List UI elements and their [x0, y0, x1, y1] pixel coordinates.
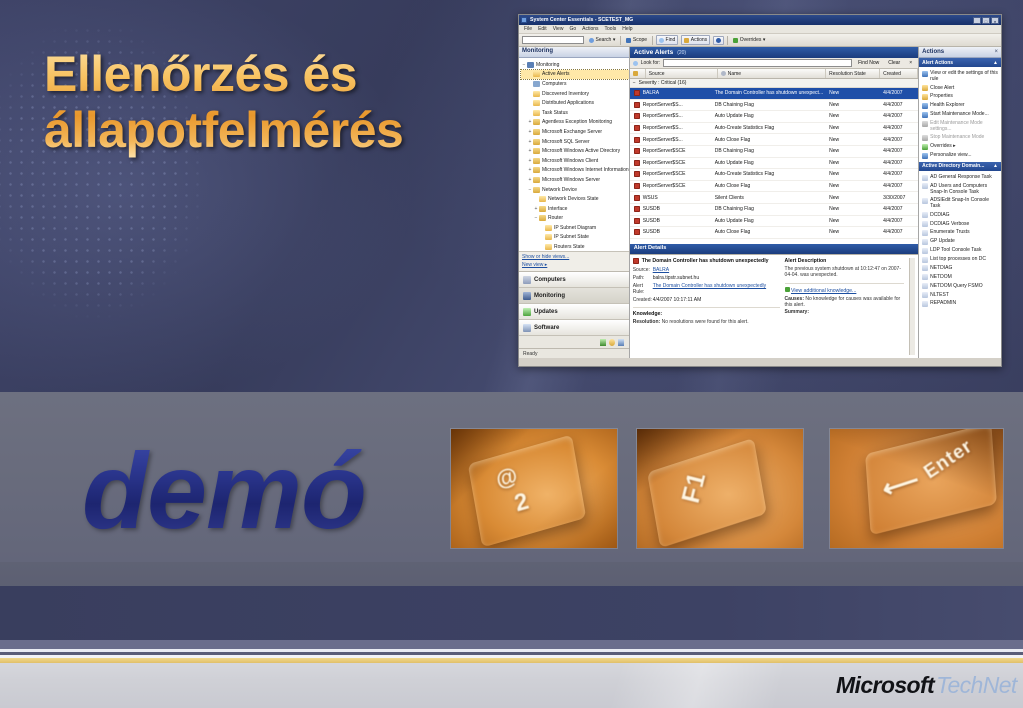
collapse-chevron-icon[interactable]: ▲: [993, 60, 998, 66]
actions-section-title: Alert Actions: [922, 60, 953, 66]
lookfor-bar[interactable]: Look for: Find Now Clear ×: [630, 58, 918, 69]
tree-item-network-devices-state[interactable]: Network Devices State: [521, 194, 629, 204]
page-title: Ellenőrzés és állapotfelmérés: [44, 46, 474, 158]
cell-created: 4/4/2007: [880, 102, 918, 108]
action-item-label: Start Maintenance Mode...: [930, 111, 989, 117]
cell-source: BALRA: [640, 90, 712, 96]
table-row[interactable]: ReportServer$SCEAuto-Create Statistics F…: [630, 169, 918, 181]
action-item-repadmin[interactable]: REPADMIN: [919, 299, 1001, 308]
group-header-row[interactable]: − Severity : Critical (16): [630, 79, 918, 88]
knowledge-icon: [785, 287, 790, 292]
action-item-enumerate-trusts[interactable]: Enumerate Trusts: [919, 228, 1001, 237]
tree-item-label: Active Alerts: [542, 71, 570, 77]
tree-item-microsoft-windows-server[interactable]: +Microsoft Windows Server: [521, 175, 629, 185]
action-item-label: Stop Maintenance Mode: [930, 134, 984, 140]
cell-source: SUSDB: [640, 206, 712, 212]
cell-created: 4/4/2007: [880, 171, 918, 177]
cell-source: ReportServer$SCE: [640, 183, 712, 189]
cell-created: 4/4/2007: [880, 183, 918, 189]
tree-item-label: Microsoft Exchange Server: [542, 129, 602, 135]
active-alerts-count: (20): [677, 50, 686, 56]
tree-item-computers[interactable]: Computers: [521, 79, 629, 89]
detail-field-value[interactable]: BALRA: [653, 267, 780, 273]
lookfor-input[interactable]: [663, 59, 852, 67]
tree-item-label: Routers State: [554, 244, 585, 250]
details-scrollbar[interactable]: [909, 258, 915, 355]
find-now-button[interactable]: Find Now: [855, 60, 882, 66]
find-label: Find: [666, 37, 676, 43]
demo-word: demó: [24, 437, 424, 545]
cell-name: Auto-Create Statistics Flag: [712, 125, 826, 131]
app-body: Monitoring −MonitoringActive AlertsCompu…: [519, 47, 1001, 358]
monitoring-tree[interactable]: −MonitoringActive AlertsComputersDiscove…: [519, 58, 629, 251]
menu-item-actions[interactable]: Actions: [582, 26, 598, 32]
column-name-label: Name: [728, 71, 741, 77]
cell-created: 4/4/2007: [880, 113, 918, 119]
maximize-button[interactable]: □: [982, 17, 990, 24]
detail-field-key: Source:: [633, 267, 653, 273]
cell-name: Auto Close Flag: [712, 183, 826, 189]
cell-source: ReportServer$SCE: [640, 171, 712, 177]
cell-resolution-state: New: [826, 218, 880, 224]
computers-nav-icon: [523, 276, 531, 284]
cell-resolution-state: New: [826, 229, 880, 235]
overrides-button[interactable]: Overrides ▾: [731, 36, 767, 44]
menu-item-tools[interactable]: Tools: [605, 26, 617, 32]
alert-icon: [533, 71, 540, 77]
table-row[interactable]: ReportServer$SCEAuto Update FlagNew4/4/2…: [630, 158, 918, 170]
severity-icon: [633, 71, 638, 76]
table-row[interactable]: SUSDBAuto Update FlagNew4/4/2007: [630, 216, 918, 228]
alert-description-text: The previous system shutdown at 10:12:47…: [785, 266, 905, 279]
cell-resolution-state: New: [826, 195, 880, 201]
table-row[interactable]: ReportServer$S...Auto Update FlagNew4/4/…: [630, 111, 918, 123]
maintenance-icon: [922, 112, 928, 118]
table-row[interactable]: WSUSSilent ClientsNew3/30/2007: [630, 192, 918, 204]
tree-item-label: IP Subnet State: [554, 234, 589, 240]
cell-source: ReportServer$SCE: [640, 160, 712, 166]
cell-name: The Domain Controller has shutdown unexp…: [712, 90, 826, 96]
photo-at-2-key: @ 2: [451, 429, 617, 548]
actions-section-title: Active Directory Domain...: [922, 163, 984, 169]
active-alerts-header: Active Alerts (20): [630, 47, 918, 58]
cell-created: 4/4/2007: [880, 229, 918, 235]
tree-item-monitoring[interactable]: −Monitoring: [521, 60, 629, 70]
lookfor-close-icon[interactable]: ×: [906, 60, 915, 66]
state-icon: [545, 234, 552, 240]
tree-item-label: Agentless Exception Monitoring: [542, 119, 612, 125]
alert-details-right: Alert Description The previous system sh…: [785, 258, 905, 355]
action-item-label: LDP Tool Console Task: [930, 247, 981, 253]
scope-button[interactable]: Scope: [624, 36, 649, 44]
tree-item-distributed-applications[interactable]: Distributed Applications: [521, 98, 629, 108]
cell-name: Auto Update Flag: [712, 218, 826, 224]
knowledge-header: Knowledge:: [633, 307, 780, 317]
nav-button-updates[interactable]: Updates: [519, 304, 629, 320]
cell-resolution-state: New: [826, 102, 880, 108]
tree-item-label: Monitoring: [536, 62, 559, 68]
scope-icon: [626, 38, 631, 43]
action-item-overrides[interactable]: Overrides ▸: [919, 142, 1001, 151]
table-row[interactable]: ReportServer$S...DB Chaining FlagNew4/4/…: [630, 100, 918, 112]
action-item-edit-maintenance-mode-settings: Edit Maintenance Mode settings...: [919, 119, 1001, 133]
folder-icon: [533, 148, 540, 154]
action-item-label: View or edit the settings of this rule: [930, 70, 998, 82]
close-button[interactable]: ×: [991, 17, 999, 24]
task-icon: [922, 248, 928, 254]
menu-item-edit[interactable]: Edit: [538, 26, 547, 32]
detail-field: Alert Rule:The Domain Controller has shu…: [633, 283, 780, 295]
search-icon: [589, 38, 594, 43]
tree-item-label: Microsoft Windows Active Directory: [542, 148, 620, 154]
action-item-ad-users-and-computers-snap-in-console-task[interactable]: AD Users and Computers Snap-In Console T…: [919, 182, 1001, 196]
action-item-label: AD Users and Computers Snap-In Console T…: [930, 183, 998, 195]
personalize-icon: [922, 153, 928, 159]
software-nav-icon: [523, 324, 531, 332]
table-row[interactable]: ReportServer$S...Auto-Create Statistics …: [630, 123, 918, 135]
table-row[interactable]: ReportServer$SCEAuto Close FlagNew4/4/20…: [630, 181, 918, 193]
folder-icon: [539, 206, 546, 212]
actions-pane-close-icon[interactable]: ×: [994, 49, 998, 55]
cell-source: SUSDB: [640, 218, 712, 224]
action-item-label: NLTEST: [930, 292, 949, 298]
action-item-label: GP Update: [930, 238, 955, 244]
column-name[interactable]: Name: [718, 69, 826, 78]
cell-source: ReportServer$SCE: [640, 148, 712, 154]
lookfor-icon: [633, 61, 638, 66]
task-icon: [922, 183, 928, 189]
cell-resolution-state: New: [826, 137, 880, 143]
cell-name: Auto-Create Statistics Flag: [712, 171, 826, 177]
nav-button-list[interactable]: ComputersMonitoringUpdatesSoftware: [519, 271, 629, 336]
action-item-label: NETDOM: [930, 274, 952, 280]
health-explorer-icon: [922, 103, 928, 109]
scope-label: Scope: [633, 37, 647, 43]
column-created[interactable]: Created: [880, 69, 918, 78]
action-item-personalize-view[interactable]: Personalize view...: [919, 151, 1001, 160]
monitoring-nav-icon: [523, 292, 531, 300]
slide-canvas: Ellenőrzés és állapotfelmérés demó @ 2 F…: [0, 0, 1023, 708]
help-icon: [716, 38, 721, 43]
tree-item-label: Computers: [542, 81, 566, 87]
tree-item-network-device[interactable]: −Network Device: [521, 185, 629, 195]
updates-nav-icon: [523, 308, 531, 316]
tree-item-microsoft-windows-client[interactable]: +Microsoft Windows Client: [521, 156, 629, 166]
view-knowledge-row[interactable]: View additional knowledge...: [785, 283, 905, 294]
column-severity[interactable]: [630, 69, 646, 78]
name-sort-icon: [721, 71, 726, 76]
nav-button-label: Computers: [534, 277, 566, 283]
active-alerts-title: Active Alerts: [634, 49, 674, 56]
minimize-button[interactable]: _: [973, 17, 981, 24]
actions-icon: [684, 38, 689, 43]
properties-icon: [922, 94, 928, 100]
folder-icon: [533, 167, 540, 173]
detail-field: Source:BALRA: [633, 267, 780, 273]
maintenance-stop-icon: [922, 135, 928, 141]
cell-created: 4/4/2007: [880, 137, 918, 143]
tree-item-label: Microsoft Windows Server: [542, 177, 600, 183]
summary-label: Summary:: [785, 309, 905, 315]
actions-section-header[interactable]: Active Directory Domain...▲: [919, 162, 1001, 171]
task-icon: [922, 230, 928, 236]
table-row[interactable]: SUSDBDB Chaining FlagNew4/4/2007: [630, 204, 918, 216]
critical-severity-icon: [633, 258, 639, 264]
tree-item-microsoft-windows-internet-information[interactable]: +Microsoft Windows Internet Information: [521, 166, 629, 176]
tree-item-label: IP Subnet Diagram: [554, 225, 596, 231]
tree-item-ip-subnet-state[interactable]: IP Subnet State: [521, 233, 629, 243]
help-button[interactable]: [713, 36, 724, 45]
column-resolution-state[interactable]: Resolution State: [826, 69, 880, 78]
nav-button-computers[interactable]: Computers: [519, 272, 629, 288]
group-label: Severity : Critical (16): [639, 80, 687, 86]
alert-details-left: The Domain Controller has shutdown unexp…: [633, 258, 780, 355]
folder-icon: [533, 177, 540, 183]
table-row[interactable]: BALRAThe Domain Controller has shutdown …: [630, 88, 918, 100]
cell-resolution-state: New: [826, 125, 880, 131]
find-button[interactable]: Find: [656, 35, 678, 45]
actions-item-list: View or edit the settings of this ruleCl…: [919, 67, 1001, 162]
action-item-nltest[interactable]: NLTEST: [919, 290, 1001, 299]
action-item-gp-update[interactable]: GP Update: [919, 237, 1001, 246]
action-item-label: REPADMIN: [930, 300, 956, 306]
tree-item-label: Router: [548, 215, 563, 221]
clear-button[interactable]: Clear: [885, 60, 903, 66]
actions-pane-title: Actions: [922, 49, 944, 55]
resolution-line: Resolution: No resolutions were found fo…: [633, 319, 780, 325]
nav-button-software[interactable]: Software: [519, 320, 629, 336]
maintenance-edit-icon: [922, 121, 928, 127]
tree-footer: Show or hide views... New view ▸: [519, 251, 629, 271]
cell-source: ReportServer$S...: [640, 137, 712, 143]
diagram-icon: [545, 225, 552, 231]
tray-blue-icon[interactable]: [618, 339, 624, 346]
inventory-icon: [533, 91, 540, 97]
cell-resolution-state: New: [826, 90, 880, 96]
cell-source: SUSDB: [640, 229, 712, 235]
cell-name: Auto Update Flag: [712, 113, 826, 119]
detail-field-value: 4/4/2007 10:17:11 AM: [653, 297, 780, 303]
detail-field-value[interactable]: The Domain Controller has shutdown unexp…: [653, 283, 780, 295]
action-item-start-maintenance-mode[interactable]: Start Maintenance Mode...: [919, 110, 1001, 119]
photo-f1-key: F1: [637, 429, 803, 548]
nav-tray[interactable]: [519, 336, 629, 348]
action-item-close-alert[interactable]: Close Alert: [919, 83, 1001, 92]
column-source[interactable]: Source: [646, 69, 718, 78]
menu-item-help[interactable]: Help: [622, 26, 632, 32]
actions-label: Actions: [691, 37, 707, 43]
action-item-label: Health Explorer: [930, 102, 964, 108]
action-item-ldp-tool-console-task[interactable]: LDP Tool Console Task: [919, 246, 1001, 255]
menu-item-go[interactable]: Go: [569, 26, 576, 32]
action-item-view-or-edit-the-settings-of-this-rule[interactable]: View or edit the settings of this rule: [919, 69, 1001, 83]
alert-rows[interactable]: BALRAThe Domain Controller has shutdown …: [630, 88, 918, 244]
action-item-health-explorer[interactable]: Health Explorer: [919, 101, 1001, 110]
alert-details-title: The Domain Controller has shutdown unexp…: [642, 258, 769, 264]
action-item-list-top-processes-on-dc[interactable]: List top processes on DC: [919, 255, 1001, 264]
action-item-dcdiag-verbose[interactable]: DCDIAG Verbose: [919, 219, 1001, 228]
cell-created: 4/4/2007: [880, 218, 918, 224]
cell-name: DB Chaining Flag: [712, 102, 826, 108]
state-icon: [539, 196, 546, 202]
tree-item-agentless-exception-monitoring[interactable]: +Agentless Exception Monitoring: [521, 118, 629, 128]
tree-item-discovered-inventory[interactable]: Discovered Inventory: [521, 89, 629, 99]
new-view-link[interactable]: New view ▸: [522, 262, 626, 268]
action-item-ad-general-response-task[interactable]: AD General Response Task: [919, 173, 1001, 182]
alert-details-title-row: The Domain Controller has shutdown unexp…: [633, 258, 780, 264]
causes-label: Causes:: [785, 296, 804, 302]
tree-item-label: Microsoft Windows Client: [542, 158, 598, 164]
cell-created: 4/4/2007: [880, 90, 918, 96]
nav-button-monitoring[interactable]: Monitoring: [519, 288, 629, 304]
table-row[interactable]: ReportServer$SCEDB Chaining FlagNew4/4/2…: [630, 146, 918, 158]
application-screenshot: System Center Essentials - SCETEST_MG _ …: [518, 14, 1002, 367]
tray-green-icon[interactable]: [600, 339, 606, 346]
search-button[interactable]: Search ▾: [587, 36, 617, 44]
cell-resolution-state: New: [826, 113, 880, 119]
cell-resolution-state: New: [826, 206, 880, 212]
action-item-label: Edit Maintenance Mode settings...: [930, 120, 998, 132]
resolution-text: No resolutions were found for this alert…: [662, 319, 749, 325]
action-item-label: Properties: [930, 93, 953, 99]
tree-item-ip-subnet-diagram[interactable]: IP Subnet Diagram: [521, 223, 629, 233]
results-pane: Active Alerts (20) Look for: Find Now Cl…: [630, 47, 919, 358]
find-icon: [659, 38, 664, 43]
action-item-netdom[interactable]: NETDOM: [919, 273, 1001, 282]
task-icon: [922, 221, 928, 227]
microsoft-wordmark: Microsoft: [836, 672, 934, 698]
show-hide-views-link[interactable]: Show or hide views...: [522, 254, 626, 260]
app-icon: [521, 17, 527, 23]
menu-item-file[interactable]: File: [524, 26, 532, 32]
tree-item-microsoft-exchange-server[interactable]: +Microsoft Exchange Server: [521, 127, 629, 137]
task-icon: [533, 110, 540, 116]
cell-resolution-state: New: [826, 171, 880, 177]
actions-pane-header: Actions ×: [919, 47, 1001, 58]
actions-sections[interactable]: Alert Actions▲View or edit the settings …: [919, 58, 1001, 310]
cell-created: 3/30/2007: [880, 195, 918, 201]
detail-field: Path:balra.tipstr.subnet.hu: [633, 275, 780, 281]
lookfor-label: Look for:: [641, 60, 660, 66]
actions-section-header[interactable]: Alert Actions▲: [919, 58, 1001, 67]
tree-item-interface[interactable]: +Interface: [521, 204, 629, 214]
action-item-netdiag[interactable]: NETDIAG: [919, 264, 1001, 273]
detail-field-key: Alert Rule:: [633, 283, 653, 295]
causes-line: Causes: No knowledge for causes was avai…: [785, 296, 905, 309]
folder-icon: [533, 139, 540, 145]
search-label: Search: [596, 37, 612, 43]
task-icon: [922, 301, 928, 307]
cell-name: DB Chaining Flag: [712, 148, 826, 154]
action-item-label: AD General Response Task: [930, 174, 992, 180]
alert-description-header: Alert Description: [785, 258, 905, 264]
technet-wordmark: TechNet: [936, 672, 1017, 698]
menu-item-view[interactable]: View: [553, 26, 564, 32]
cell-name: DB Chaining Flag: [712, 206, 826, 212]
search-input[interactable]: [522, 36, 584, 44]
column-headers[interactable]: Source Name Resolution State Created: [630, 69, 918, 79]
nav-button-label: Software: [534, 325, 559, 331]
cell-created: 4/4/2007: [880, 206, 918, 212]
slide-background-navy-band: [0, 586, 1023, 640]
tree-item-microsoft-windows-active-directory[interactable]: +Microsoft Windows Active Directory: [521, 146, 629, 156]
action-item-label: DCDIAG Verbose: [930, 221, 969, 227]
tree-item-task-status[interactable]: Task Status: [521, 108, 629, 118]
slide-background-periwinkle-rule: [0, 640, 1023, 649]
folder-icon: [533, 187, 540, 193]
cell-name: Auto Close Flag: [712, 229, 826, 235]
table-row[interactable]: SUSDBAuto Close FlagNew4/4/2007: [630, 227, 918, 239]
folder-icon: [533, 129, 540, 135]
table-row[interactable]: ReportServer$S...Auto Close FlagNew4/4/2…: [630, 134, 918, 146]
action-item-adsiedit-snap-in-console-task[interactable]: ADSIEdit Snap-In Console Task: [919, 196, 1001, 210]
overrides-label: Overrides: [740, 37, 762, 43]
alert-detail-fields: Source:BALRAPath:balra.tipstr.subnet.huA…: [633, 267, 780, 303]
overrides-icon: [733, 38, 738, 43]
toolbar[interactable]: Search ▾ Scope Find Actions: [519, 34, 1001, 47]
computer-icon: [533, 81, 540, 87]
actions-pane: Actions × Alert Actions▲View or edit the…: [919, 47, 1001, 358]
action-item-stop-maintenance-mode: Stop Maintenance Mode: [919, 133, 1001, 142]
action-item-properties[interactable]: Properties: [919, 92, 1001, 101]
menu-bar[interactable]: FileEditViewGoActionsToolsHelp: [519, 25, 1001, 34]
cell-name: Silent Clients: [712, 195, 826, 201]
folder-icon: [539, 215, 546, 221]
tree-item-active-alerts[interactable]: Active Alerts: [521, 70, 629, 80]
tree-item-label: Network Device: [542, 187, 577, 193]
cell-created: 4/4/2007: [880, 160, 918, 166]
cell-created: 4/4/2007: [880, 148, 918, 154]
task-icon: [922, 198, 928, 204]
group-expander-icon[interactable]: −: [633, 80, 636, 86]
overrides-dropdown-icon[interactable]: ▾: [763, 37, 766, 43]
actions-toolbar-button[interactable]: Actions: [681, 35, 710, 45]
navigation-pane: Monitoring −MonitoringActive AlertsCompu…: [519, 47, 630, 358]
search-dropdown-icon[interactable]: ▾: [613, 37, 616, 43]
tree-item-label: Microsoft SQL Server: [542, 139, 590, 145]
cell-source: ReportServer$S...: [640, 113, 712, 119]
action-item-label: List top processes on DC: [930, 256, 986, 262]
tree-item-microsoft-sql-server[interactable]: +Microsoft SQL Server: [521, 137, 629, 147]
action-item-label: NETDOM Query FSMO: [930, 283, 983, 289]
window-titlebar: System Center Essentials - SCETEST_MG _ …: [519, 15, 1001, 25]
tree-item-label: Microsoft Windows Internet Information: [542, 167, 629, 173]
action-item-label: ADSIEdit Snap-In Console Task: [930, 197, 998, 209]
app-icon: [533, 100, 540, 106]
state-icon: [545, 244, 552, 250]
window-controls[interactable]: _ □ ×: [973, 17, 999, 24]
view-knowledge-link[interactable]: View additional knowledge...: [791, 288, 856, 294]
tray-gold-icon[interactable]: [609, 339, 615, 346]
monitor-icon: [527, 62, 534, 68]
action-item-label: Enumerate Trusts: [930, 229, 969, 235]
task-icon: [922, 265, 928, 271]
nav-button-label: Updates: [534, 309, 558, 315]
action-item-netdom-query-fsmo[interactable]: NETDOM Query FSMO: [919, 282, 1001, 291]
collapse-chevron-icon[interactable]: ▲: [993, 163, 998, 169]
overrides-icon: [922, 144, 928, 150]
action-item-label: NETDIAG: [930, 265, 952, 271]
action-item-dcdiag[interactable]: DCDIAG: [919, 211, 1001, 220]
resolution-label: Resolution:: [633, 319, 661, 325]
close-alert-icon: [922, 85, 928, 91]
tree-item-label: Distributed Applications: [542, 100, 594, 106]
tree-item-router[interactable]: −Router: [521, 214, 629, 224]
tree-item-label: Interface: [548, 206, 567, 212]
detail-field: Created:4/4/2007 10:17:11 AM: [633, 297, 780, 303]
cell-resolution-state: New: [826, 160, 880, 166]
tree-item-routers-state[interactable]: Routers State: [521, 242, 629, 251]
